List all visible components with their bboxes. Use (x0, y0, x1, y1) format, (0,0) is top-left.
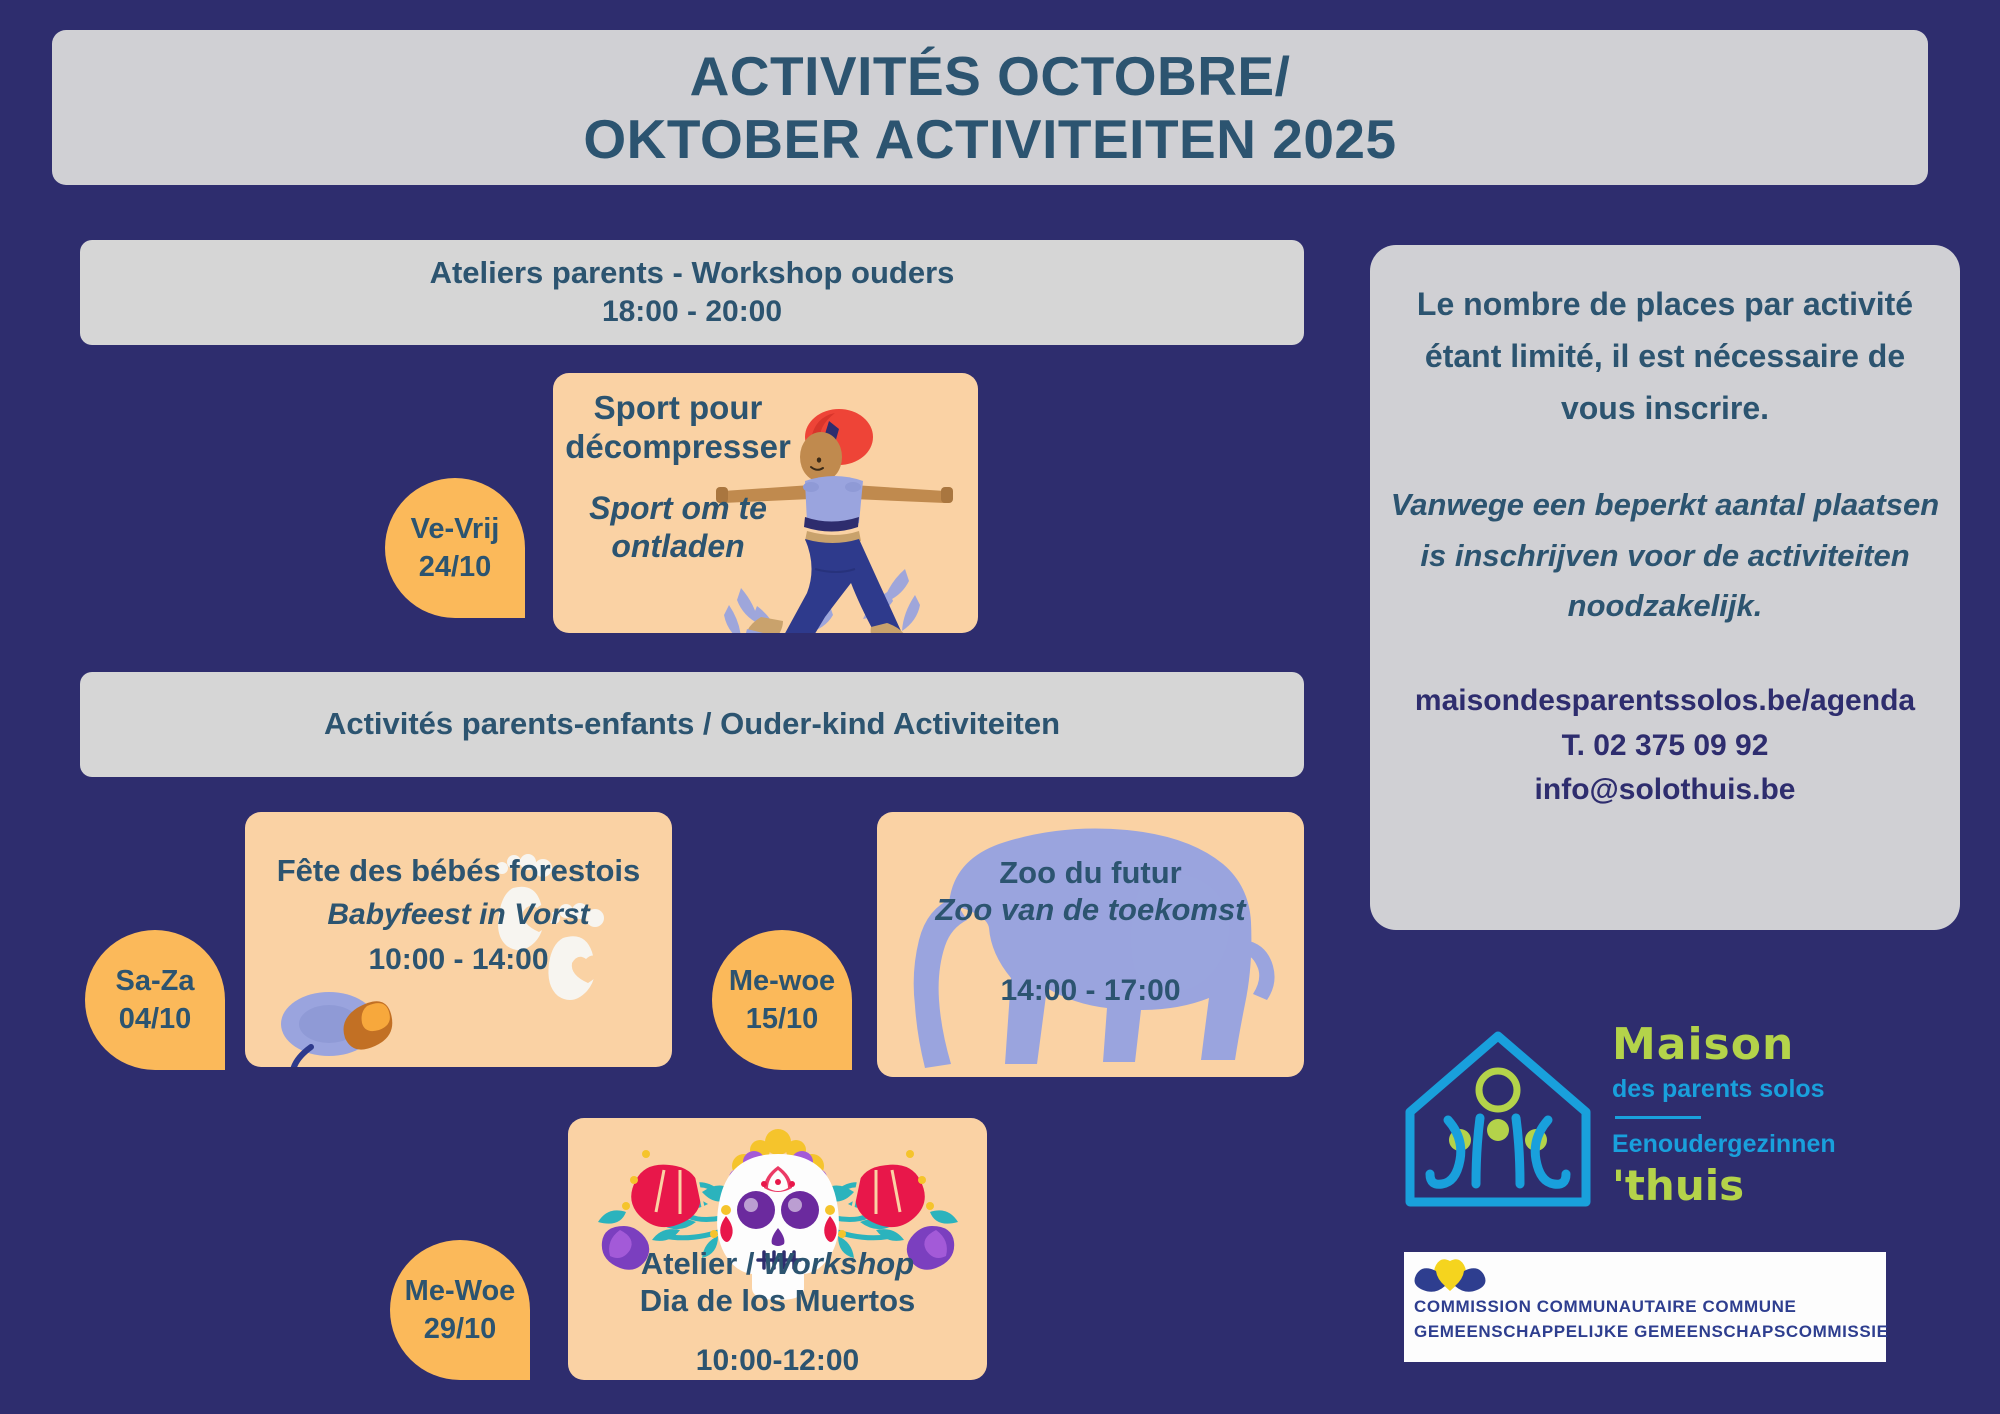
section-header-family-activities: Activités parents-enfants / Ouder-kind A… (80, 672, 1304, 777)
event-title-nl: Babyfeest in Vorst (245, 897, 672, 933)
date-badge-date: 29/10 (424, 1310, 497, 1348)
title-banner: Activités octobre/ Oktober activiteiten … (52, 30, 1928, 185)
logo-des-parents-solos-text: des parents solos (1612, 1073, 1836, 1107)
event-title-fr: Sport pour décompresser (553, 389, 803, 467)
logo-cocom: COMMISSION COMMUNAUTAIRE COMMUNE GEMEENS… (1404, 1252, 1886, 1362)
contact-website[interactable]: maisondesparentssolos.be/agenda (1388, 679, 1942, 723)
logo-divider (1615, 1116, 1701, 1119)
date-badge-day: Sa-Za (116, 962, 195, 1000)
date-badge-bebes: Sa-Za 04/10 (85, 930, 225, 1070)
section-adults-time: 18:00 - 20:00 (602, 293, 782, 331)
info-text-nl: Vanwege een beperkt aantal plaatsen is i… (1388, 480, 1942, 631)
cocom-text-nl: GEMEENSCHAPPELIJKE GEMEENSCHAPSCOMMISSIE (1414, 1320, 1886, 1345)
section-adults-title: Ateliers parents - Workshop ouders (430, 254, 955, 293)
event-card-sport-text: Sport pour décompresser Sport om te ontl… (553, 373, 803, 566)
date-badge-day: Me-woe (729, 962, 835, 1000)
event-time: 10:00-12:00 (568, 1344, 987, 1378)
event-title-fr: Zoo du futur (877, 854, 1304, 891)
cocom-iris-icon (1414, 1257, 1486, 1295)
date-badge-zoo: Me-woe 15/10 (712, 930, 852, 1070)
logo-thuis-text: 'thuis (1612, 1165, 1836, 1207)
title-line-nl: Oktober activiteiten 2025 (583, 108, 1396, 171)
event-title-nl: Sport om te ontladen (553, 489, 803, 566)
contact-phone[interactable]: T. 02 375 09 92 (1388, 724, 1942, 768)
event-card-bebes-text: Fête des bébés forestois Babyfeest in Vo… (245, 812, 672, 977)
contact-block: maisondesparentssolos.be/agenda T. 02 37… (1388, 679, 1942, 812)
logo-eenoudergezinnen-text: Eenoudergezinnen (1612, 1128, 1836, 1162)
event-title-nl: Workshop (763, 1246, 914, 1281)
event-time: 10:00 - 14:00 (245, 943, 672, 977)
date-badge-date: 15/10 (746, 1000, 819, 1038)
info-text-fr: Le nombre de places par activité étant l… (1388, 279, 1942, 434)
title-line-fr: Activités octobre/ (690, 45, 1291, 108)
pacifier-icon (281, 992, 392, 1067)
date-badge-sport: Ve-Vrij 24/10 (385, 478, 525, 618)
event-card-bebes[interactable]: Fête des bébés forestois Babyfeest in Vo… (245, 812, 672, 1067)
registration-info-panel: Le nombre de places par activité étant l… (1370, 245, 1960, 930)
house-family-icon (1398, 1020, 1598, 1210)
cocom-text-fr: COMMISSION COMMUNAUTAIRE COMMUNE (1414, 1295, 1886, 1320)
date-badge-muertos: Me-Woe 29/10 (390, 1240, 530, 1380)
logo-maison-des-parents-solos: Maison des parents solos Eenoudergezinne… (1398, 1000, 1958, 1230)
event-title-line2: Dia de los Muertos (568, 1282, 987, 1320)
event-title-nl: Zoo van de toekomst (877, 891, 1304, 928)
logo-maison-text: Maison (1612, 1023, 1836, 1067)
event-card-muertos-text: Atelier / Workshop Dia de los Muertos 10… (568, 1118, 987, 1378)
logo-wordmark: Maison des parents solos Eenoudergezinne… (1612, 1023, 1836, 1208)
event-title-mixed: Atelier / Workshop (568, 1246, 987, 1282)
date-badge-date: 24/10 (419, 548, 492, 586)
poster-root: Activités octobre/ Oktober activiteiten … (0, 0, 2000, 1414)
event-title-fr: Fête des bébés forestois (245, 852, 672, 889)
date-badge-date: 04/10 (119, 1000, 192, 1038)
date-badge-day: Ve-Vrij (411, 510, 500, 548)
section-header-adult-workshops: Ateliers parents - Workshop ouders 18:00… (80, 240, 1304, 345)
event-time: 14:00 - 17:00 (877, 974, 1304, 1008)
event-card-zoo[interactable]: Zoo du futur Zoo van de toekomst 14:00 -… (877, 812, 1304, 1077)
contact-email[interactable]: info@solothuis.be (1388, 768, 1942, 812)
event-card-zoo-text: Zoo du futur Zoo van de toekomst 14:00 -… (877, 812, 1304, 1008)
event-card-muertos[interactable]: Atelier / Workshop Dia de los Muertos 10… (568, 1118, 987, 1380)
date-badge-day: Me-Woe (405, 1272, 516, 1310)
event-card-sport[interactable]: Sport pour décompresser Sport om te ontl… (553, 373, 978, 633)
section-family-title: Activités parents-enfants / Ouder-kind A… (324, 705, 1060, 744)
event-title-fr: Atelier / (641, 1246, 763, 1281)
